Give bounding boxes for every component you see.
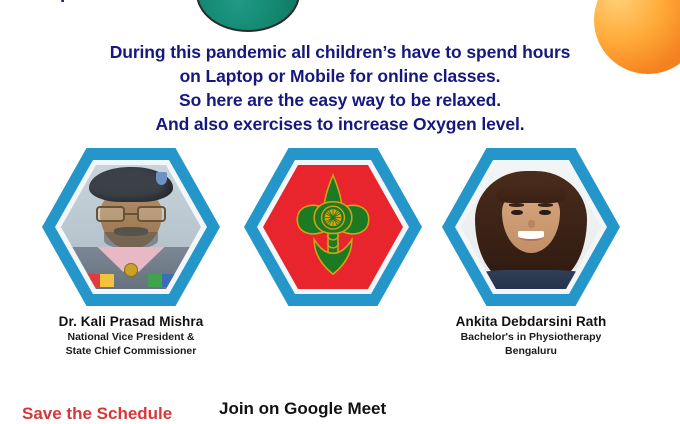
speaker-title-3: Bachelor's in Physiotherapy Bengaluru bbox=[432, 331, 630, 358]
speaker-title-line-1: National Vice President & bbox=[32, 331, 230, 345]
speaker-name-3: Ankita Debdarsini Rath bbox=[432, 314, 630, 329]
eyebrow-shape bbox=[538, 203, 553, 206]
speaker-photo-3 bbox=[461, 165, 601, 289]
ribbon-shape bbox=[100, 274, 114, 286]
speaker-photo-1 bbox=[61, 165, 201, 289]
ribbon-shape bbox=[148, 274, 162, 286]
hexagon-frame-1 bbox=[42, 148, 220, 306]
poster-canvas: { "decor": { "teal_circle": "teal-circle… bbox=[0, 0, 680, 420]
headline-line-1: During this pandemic all children’s have… bbox=[0, 40, 680, 64]
hexagon-frame-3 bbox=[442, 148, 620, 306]
headline-line-3: So here are the easy way to be relaxed. bbox=[0, 88, 680, 112]
speaker-title-line-2: Bengaluru bbox=[432, 345, 630, 359]
hexagon-inner-gap-2 bbox=[257, 160, 409, 294]
glasses-icon bbox=[96, 206, 166, 222]
eye-shape bbox=[539, 210, 550, 216]
headline-line-2: on Laptop or Mobile for online classes. bbox=[0, 64, 680, 88]
eye-shape bbox=[511, 210, 522, 216]
ashoka-chakra-icon bbox=[325, 210, 341, 226]
nose-shape bbox=[528, 220, 535, 229]
join-on-google-meet-label[interactable]: Join on Google Meet bbox=[219, 399, 386, 419]
scout-officer-portrait bbox=[61, 165, 201, 289]
speaker-card-1: Dr. Kali Prasad Mishra National Vice Pre… bbox=[32, 148, 230, 358]
speaker-title-line-1: Bachelor's in Physiotherapy bbox=[432, 331, 630, 345]
speaker-card-3: Ankita Debdarsini Rath Bachelor's in Phy… bbox=[432, 148, 630, 358]
bharat-scouts-guides-emblem bbox=[263, 165, 403, 289]
eyebrow-shape bbox=[509, 203, 524, 206]
speaker-title-1: National Vice President & State Chief Co… bbox=[32, 331, 230, 358]
fleur-de-lis-icon bbox=[277, 172, 389, 281]
speaker-row: Dr. Kali Prasad Mishra National Vice Pre… bbox=[0, 148, 680, 333]
headline-text: During this pandemic all children’s have… bbox=[0, 40, 680, 136]
headline-line-4: And also exercises to increase Oxygen le… bbox=[0, 112, 680, 136]
scarf-woggle-icon bbox=[124, 263, 138, 277]
ribbon-shape bbox=[86, 274, 100, 286]
smile-shape bbox=[518, 231, 543, 241]
speaker-title-line-2: State Chief Commissioner bbox=[32, 345, 230, 359]
save-the-schedule-label: Save the Schedule bbox=[22, 404, 172, 424]
emblem-card bbox=[234, 148, 432, 306]
hexagon-inner-gap-3 bbox=[455, 160, 607, 294]
ribbon-shape bbox=[162, 274, 176, 286]
episode-label: Episode 4 bbox=[47, 0, 139, 4]
footer-bar: Save the Schedule Join on Google Meet bbox=[0, 390, 680, 420]
shoulder-shape bbox=[469, 270, 592, 289]
hexagon-inner-gap-1 bbox=[55, 160, 207, 294]
woman-portrait bbox=[461, 165, 601, 289]
hexagon-frame-2 bbox=[244, 148, 422, 306]
emblem-photo bbox=[263, 165, 403, 289]
speaker-name-1: Dr. Kali Prasad Mishra bbox=[32, 314, 230, 329]
teal-circle-decoration bbox=[196, 0, 300, 32]
